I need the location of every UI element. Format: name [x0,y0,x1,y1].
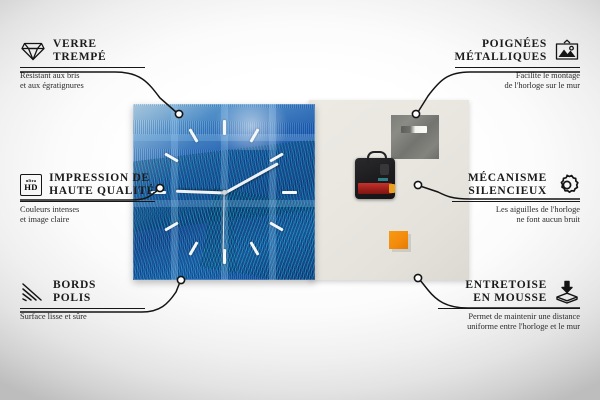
callout-title-line1: MÉCANISME [468,172,547,185]
callout-sub-line1: Résistant aux bris [20,71,145,81]
callout-impression-haute-qualite: ultra HD IMPRESSION DE HAUTE QUALITÉ Cou… [20,172,155,225]
hanger-keyhole-slot [401,126,427,133]
callout-rule [20,201,155,202]
callout-sub-line1: Permet de maintenir une distance [438,312,580,322]
callout-title-line2: HAUTE QUALITÉ [49,185,155,198]
battery [358,183,392,194]
hanging-picture-icon [554,39,580,63]
ultra-hd-icon-bottom: HD [24,183,38,192]
foam-spacer-icon [554,280,580,304]
mechanism-shaft [380,164,389,175]
callout-title-line2: TREMPÉ [53,51,106,64]
ultra-hd-icon: ultra HD [20,174,42,196]
callout-sub-line1: Facilite le montage [455,71,580,81]
callout-sub-line2: de l'horloge sur le mur [455,81,580,91]
clock-mechanism [355,158,395,199]
foam-spacer [389,231,408,249]
product-image [133,100,469,280]
callout-bords-polis: BORDS POLIS Surface lisse et sûre [20,279,145,322]
metal-hanger-plate [391,115,439,159]
mechanism-label [378,178,388,181]
hour-marker [223,120,226,135]
callout-sub-line1: Couleurs intenses [20,205,155,215]
callout-mecanisme-silencieux: MÉCANISME SILENCIEUX Les aiguilles de l'… [452,172,580,225]
hour-marker [282,191,297,194]
callout-sub-line1: Les aiguilles de l'horloge [452,205,580,215]
infographic-canvas: VERRE TREMPÉ Résistant aux bris et aux é… [0,0,600,400]
callout-sub-line1: Surface lisse et sûre [20,312,145,322]
callout-title-line1: ENTRETOISE [465,279,547,292]
callout-sub-line2: ne font aucun bruit [452,215,580,225]
callout-verre-trempe: VERRE TREMPÉ Résistant aux bris et aux é… [20,38,145,91]
callout-sub-line2: et image claire [20,215,155,225]
callout-title-line1: BORDS [53,279,96,292]
callout-sub-line2: et aux égratignures [20,81,145,91]
battery-terminal [389,184,395,193]
callout-title-line1: VERRE [53,38,106,51]
clock-back-panel [309,100,469,280]
callout-poignees-metalliques: POIGNÉES MÉTALLIQUES Facilite le montage… [455,38,580,91]
callout-rule [20,308,145,309]
clock-hub [222,190,227,195]
callout-rule [455,67,580,68]
callout-entretoise-en-mousse: ENTRETOISE EN MOUSSE Permet de maintenir… [438,279,580,332]
polished-edge-icon [20,281,46,303]
callout-rule [452,201,580,202]
callout-title-line1: IMPRESSION DE [49,172,155,185]
callout-title-line1: POIGNÉES [455,38,547,51]
callout-sub-line2: uniforme entre l'horloge et le mur [438,322,580,332]
mechanism-hook [367,151,387,163]
callout-title-line2: MÉTALLIQUES [455,51,547,64]
gear-icon [554,173,580,197]
callout-rule [438,308,580,309]
callout-title-line2: POLIS [53,292,96,305]
callout-rule [20,67,145,68]
clock-front-panel [133,104,315,280]
diamond-icon [20,40,46,62]
callout-title-line2: SILENCIEUX [468,185,547,198]
callout-title-line2: EN MOUSSE [465,292,547,305]
